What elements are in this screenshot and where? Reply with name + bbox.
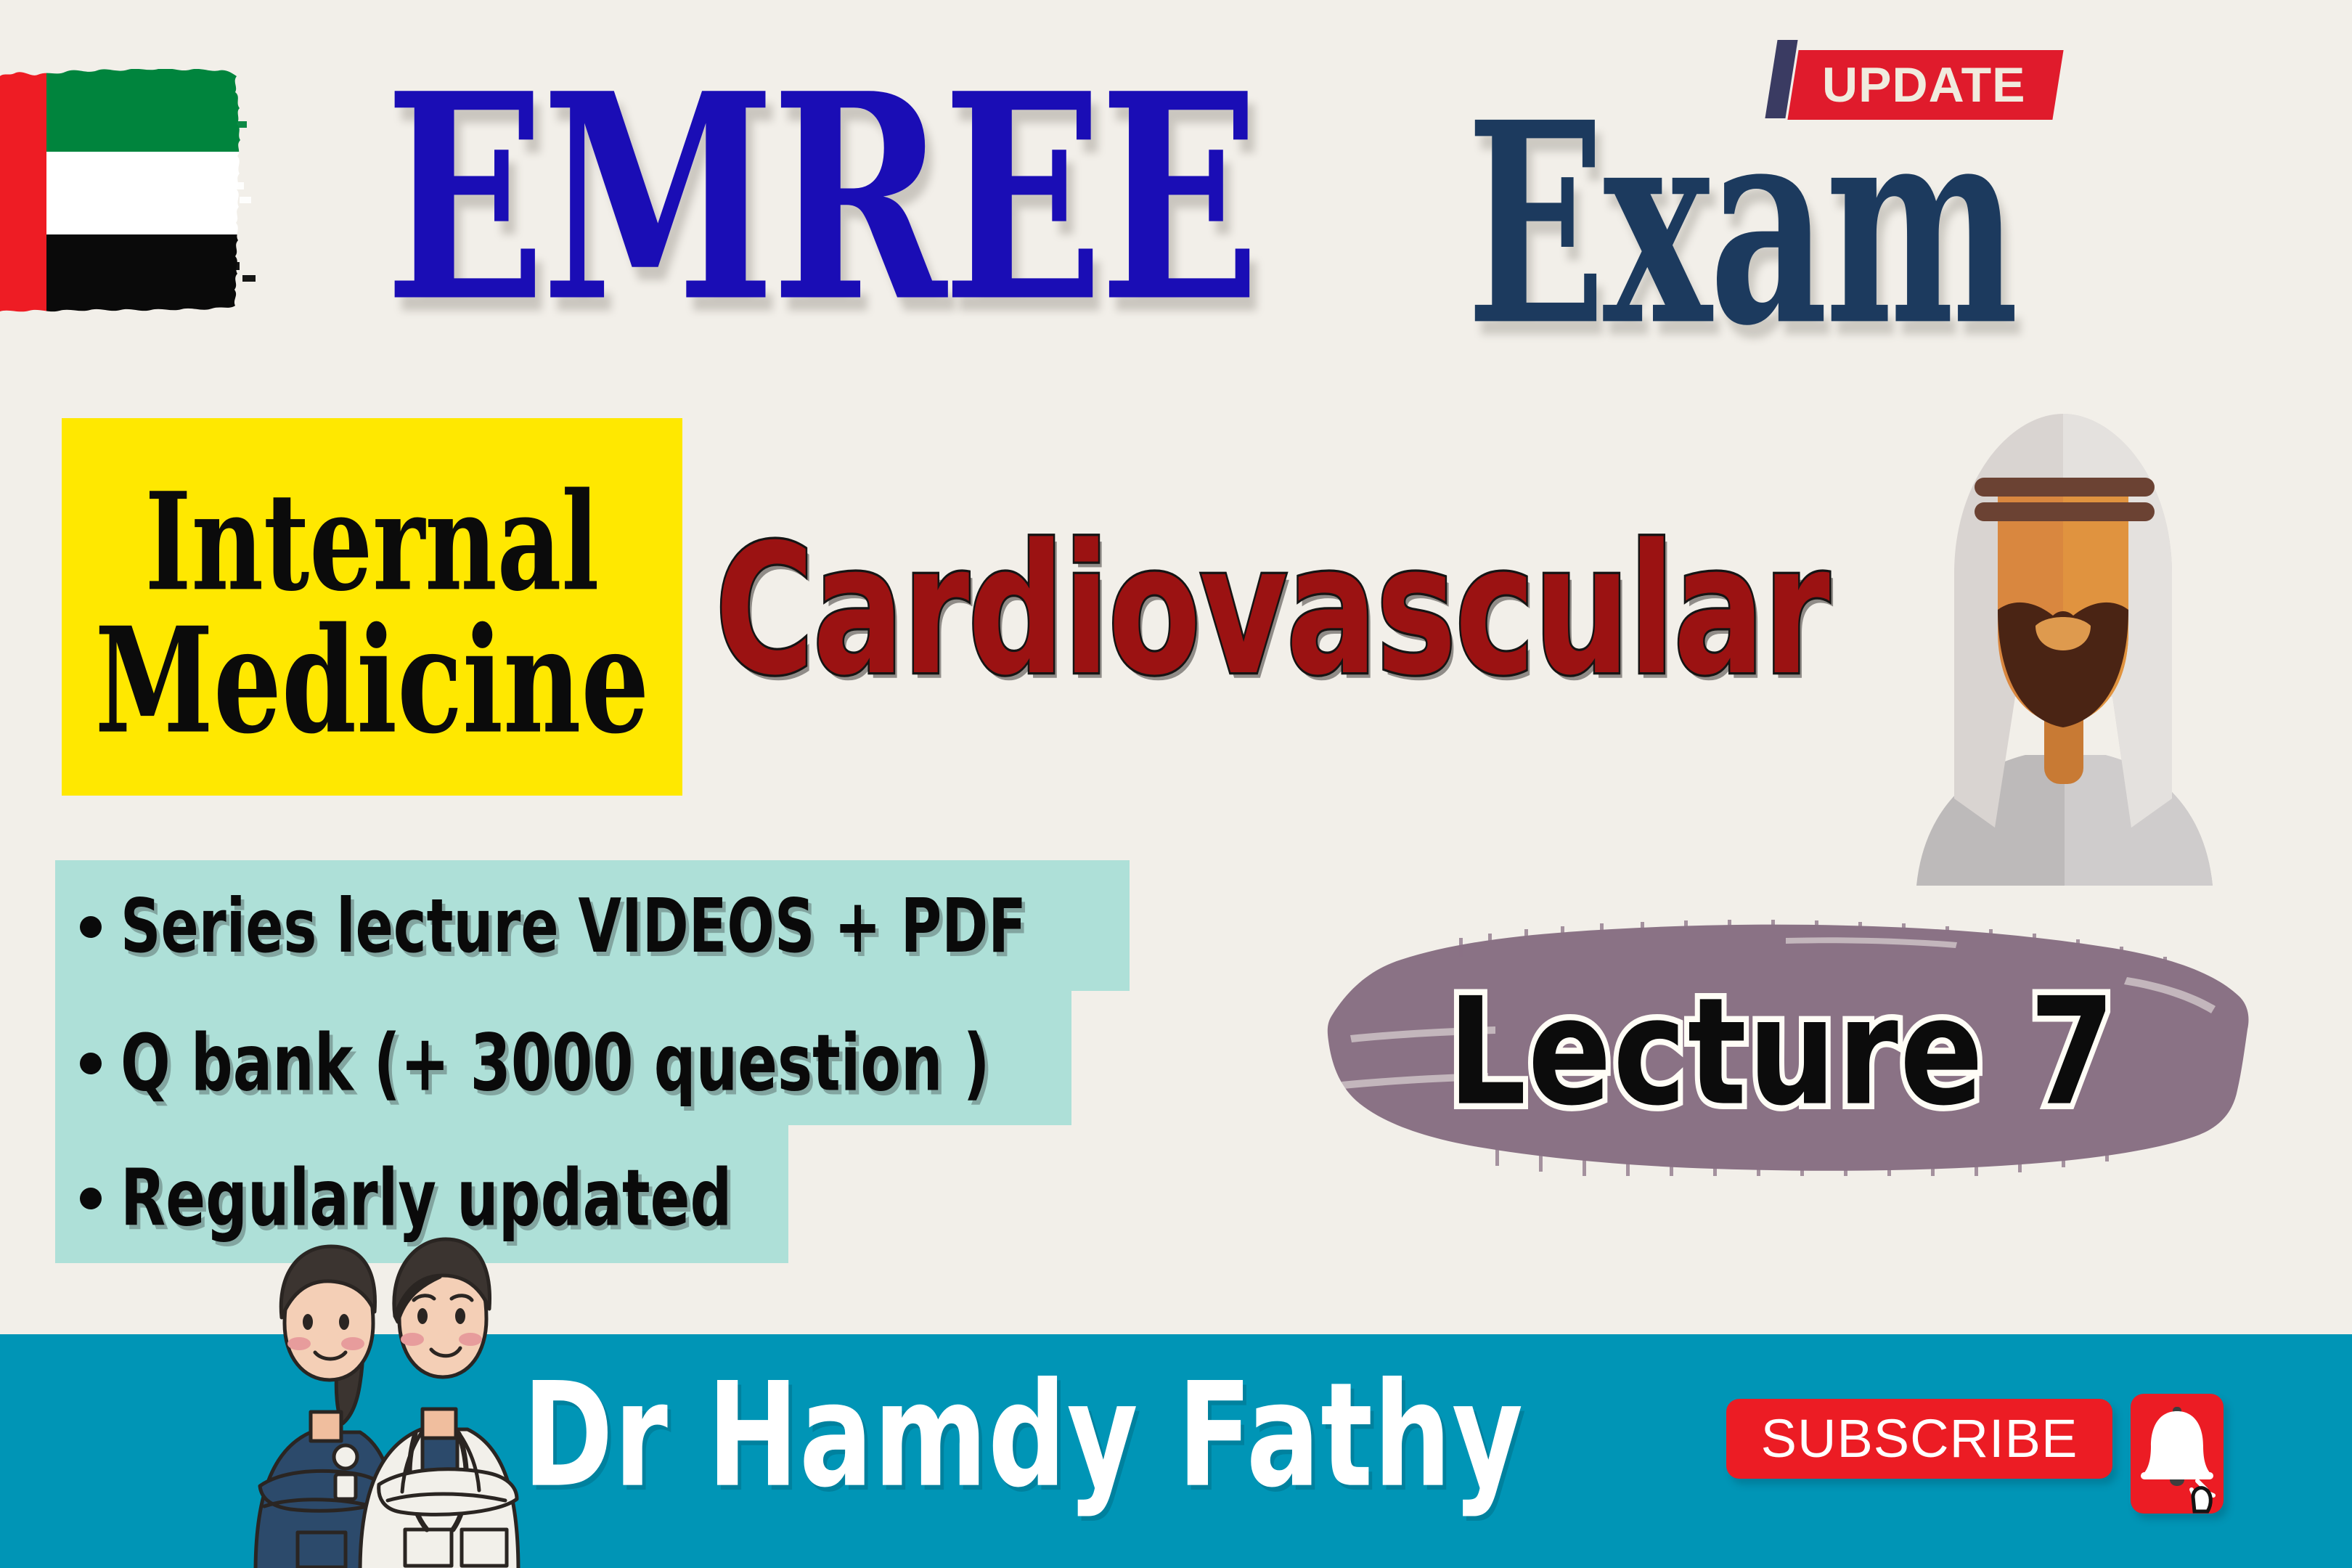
lecture-badge: Lecture 7 [1307, 907, 2258, 1176]
specialty-line-2: Medicine [93, 608, 652, 754]
thumbnail-canvas: EMREE Exam UPDATE Internal Medicine Card… [0, 0, 2352, 1568]
feature-item-2-label: Q bank (+ 3000 question ) [121, 1024, 990, 1103]
specialty-box: Internal Medicine [62, 418, 682, 796]
feature-item-1: Series lecture VIDEOS + PDF [80, 897, 1085, 957]
presenter-name: Dr Hamdy Fathy [523, 1363, 1524, 1507]
feature-item-2: Q bank (+ 3000 question ) [80, 1032, 1045, 1095]
specialty-line-1: Internal [93, 475, 652, 609]
subscribe-button-label: SUBSCRIBE [1761, 1412, 2078, 1466]
bullet-dot-icon [80, 916, 102, 938]
bell-icon [2131, 1394, 2224, 1514]
uae-flag-brush-icon [0, 40, 298, 345]
update-badge-label: UPDATE [1822, 60, 2026, 110]
bullet-dot-icon [80, 1053, 102, 1074]
two-doctors-illustration-icon [218, 1201, 523, 1568]
arab-man-avatar-icon [1873, 392, 2250, 886]
page-title-emree: EMREE [385, 57, 1256, 340]
bullet-dot-icon [80, 1188, 102, 1209]
page-title-exam: Exam [1466, 87, 2016, 364]
topic-title: Cardiovascular [715, 521, 1829, 701]
subscribe-button[interactable]: SUBSCRIBE [1726, 1399, 2112, 1479]
lecture-label: Lecture 7 [1307, 979, 2258, 1127]
feature-item-1-label: Series lecture VIDEOS + PDF [121, 890, 1026, 965]
notification-bell-button[interactable] [2131, 1394, 2224, 1514]
update-badge-chip: UPDATE [1787, 50, 2063, 120]
